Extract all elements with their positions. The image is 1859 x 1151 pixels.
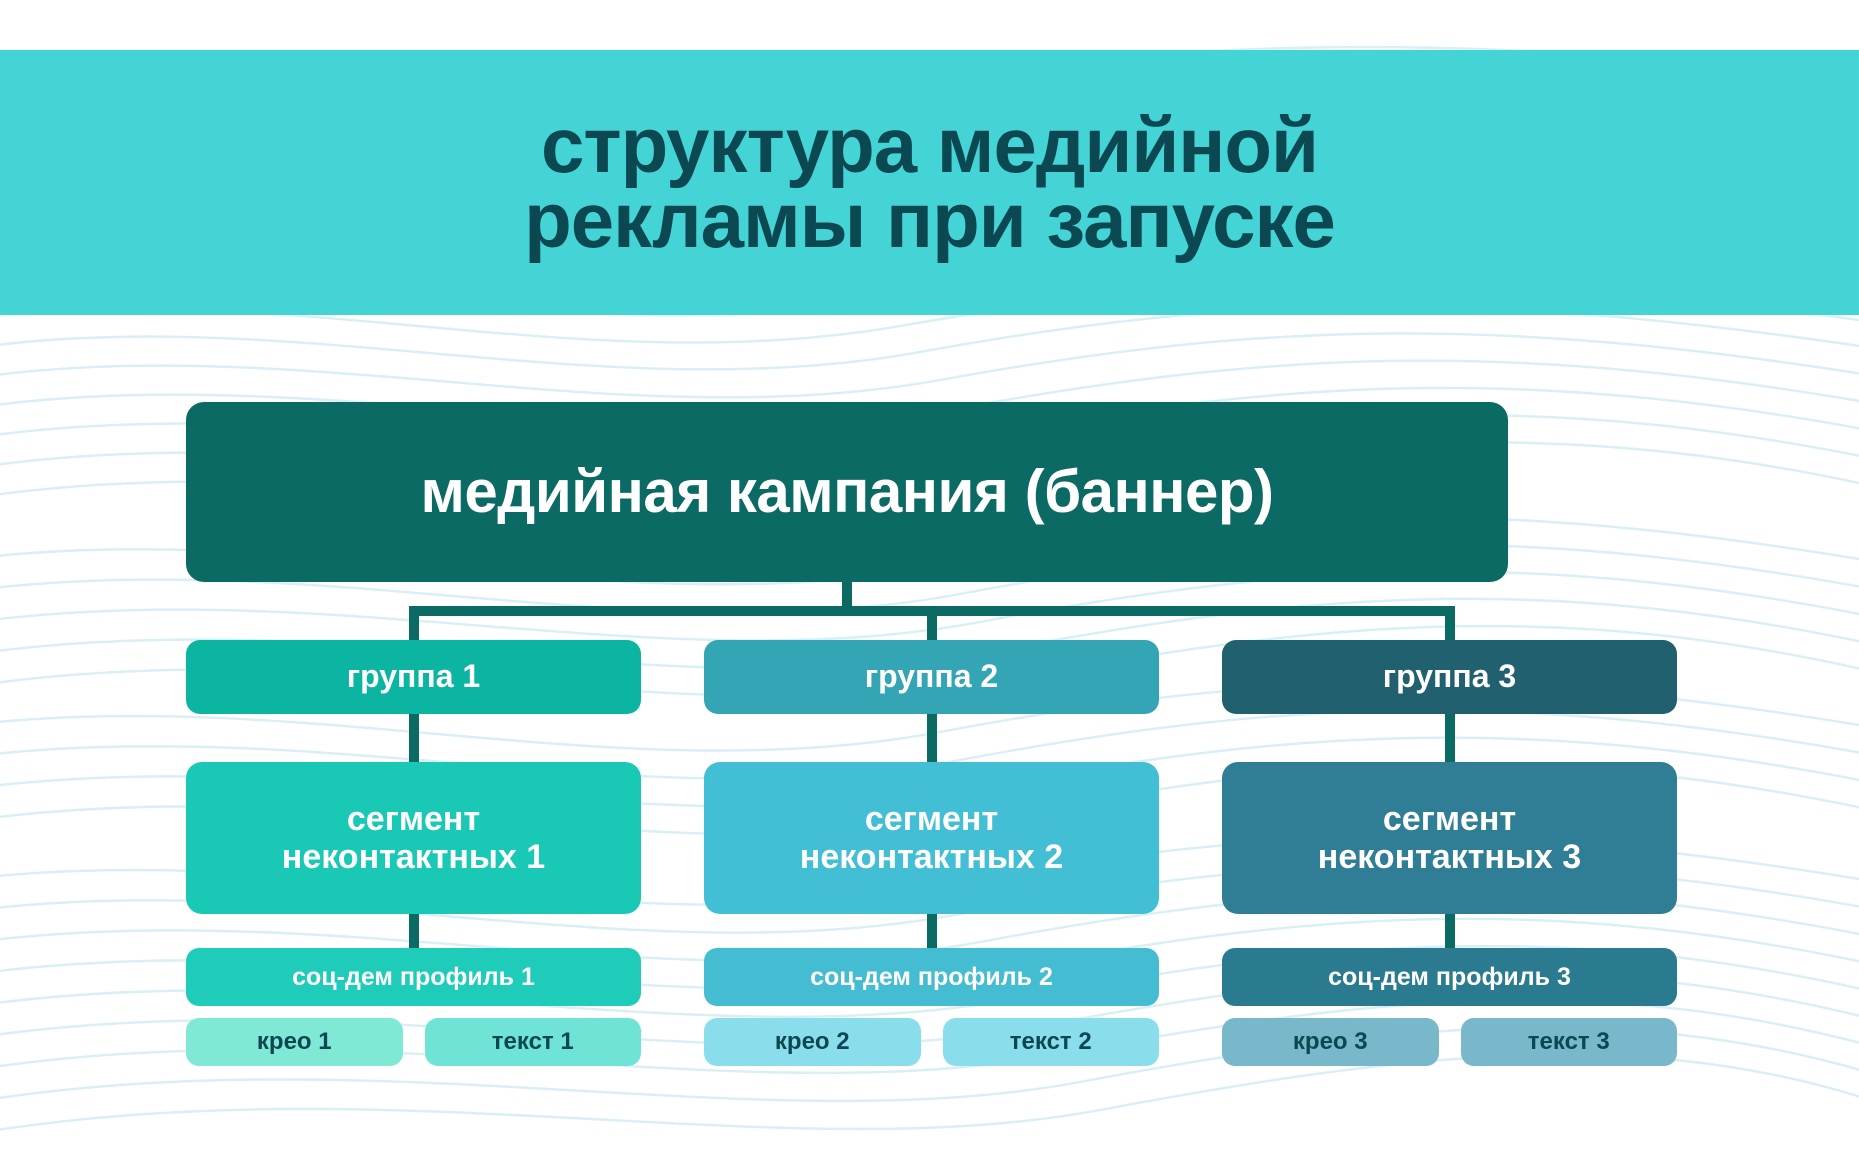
group-node-3[interactable]: группа 3 bbox=[1222, 640, 1677, 714]
segment-label-line-2-2: неконтактных 2 bbox=[800, 838, 1063, 876]
connector-bus-to-group-3 bbox=[1445, 606, 1455, 640]
connector-bus-to-group-1 bbox=[409, 606, 419, 640]
group-node-2[interactable]: группа 2 bbox=[704, 640, 1159, 714]
connector-segment-to-profile-2 bbox=[927, 914, 937, 948]
text-node-3[interactable]: текст 3 bbox=[1461, 1018, 1678, 1066]
profile-node-2[interactable]: соц-дем профиль 2 bbox=[704, 948, 1159, 1006]
text-node-1[interactable]: текст 1 bbox=[425, 1018, 642, 1066]
segment-node-3[interactable]: сегментнеконтактных 3 bbox=[1222, 762, 1677, 914]
segment-node-2[interactable]: сегментнеконтактных 2 bbox=[704, 762, 1159, 914]
org-chart-diagram: медийная кампания (баннер) группа 1сегме… bbox=[0, 0, 1859, 1151]
segment-label-line-1-2: сегмент bbox=[865, 800, 998, 838]
segment-node-1[interactable]: сегментнеконтактных 1 bbox=[186, 762, 641, 914]
infographic-canvas: структура медийной рекламы при запуске м… bbox=[0, 0, 1859, 1151]
group-node-1[interactable]: группа 1 bbox=[186, 640, 641, 714]
segment-label-line-2-1: неконтактных 1 bbox=[282, 838, 545, 876]
segment-label-line-1-3: сегмент bbox=[1383, 800, 1516, 838]
connector-group-to-segment-2 bbox=[927, 714, 937, 762]
profile-node-1[interactable]: соц-дем профиль 1 bbox=[186, 948, 641, 1006]
profile-node-3[interactable]: соц-дем профиль 3 bbox=[1222, 948, 1677, 1006]
connector-segment-to-profile-1 bbox=[409, 914, 419, 948]
connector-group-to-segment-1 bbox=[409, 714, 419, 762]
segment-label-line-1-1: сегмент bbox=[347, 800, 480, 838]
segment-label-line-2-3: неконтактных 3 bbox=[1318, 838, 1581, 876]
creative-node-3[interactable]: крео 3 bbox=[1222, 1018, 1439, 1066]
root-node-media-campaign[interactable]: медийная кампания (баннер) bbox=[186, 402, 1508, 582]
connector-group-to-segment-3 bbox=[1445, 714, 1455, 762]
connector-segment-to-profile-3 bbox=[1445, 914, 1455, 948]
creative-node-2[interactable]: крео 2 bbox=[704, 1018, 921, 1066]
creative-node-1[interactable]: крео 1 bbox=[186, 1018, 403, 1066]
text-node-2[interactable]: текст 2 bbox=[943, 1018, 1160, 1066]
connector-bus-to-group-2 bbox=[927, 606, 937, 640]
